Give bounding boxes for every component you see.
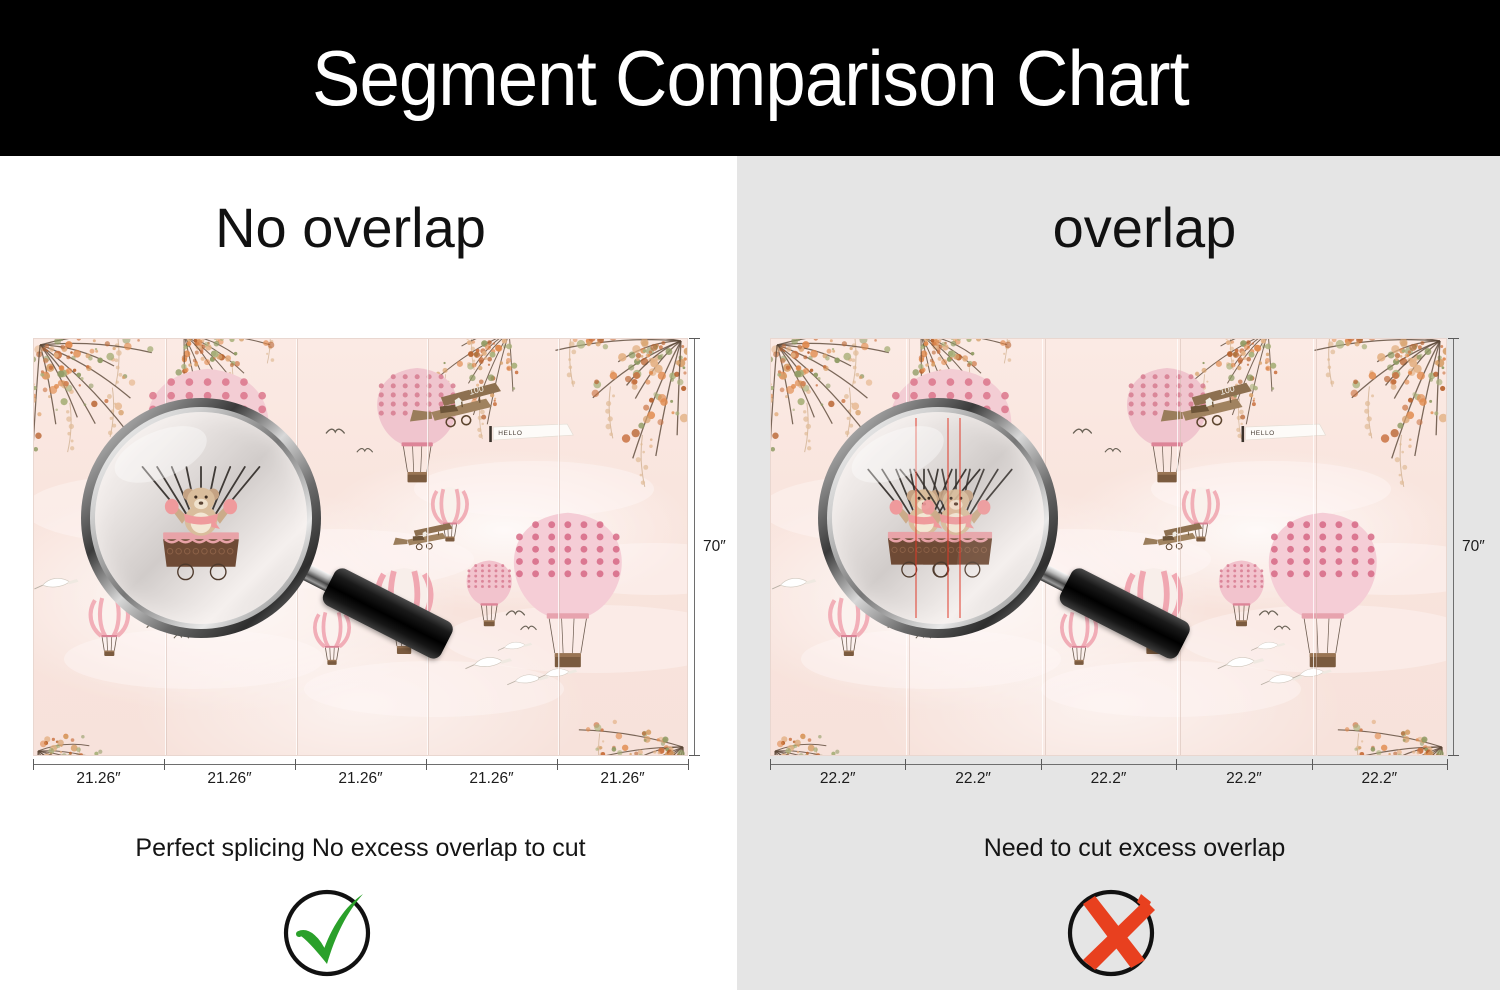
segment-tick xyxy=(1041,759,1042,770)
page-title: Segment Comparison Chart xyxy=(312,39,1189,117)
comparison-panels: No overlap 100HELLO 70″ 21.26″21.26″21.2… xyxy=(0,156,1500,990)
title-banner: Segment Comparison Chart xyxy=(0,0,1500,156)
mural-seam-shadow xyxy=(166,339,167,755)
segment-tick xyxy=(905,759,906,770)
segment-tick xyxy=(688,759,689,770)
segment-tick xyxy=(1447,759,1448,770)
segment-tick xyxy=(1176,759,1177,770)
panel-overlap: overlap 100HELLO 70″ 22.2″22.2″22.2″22.2… xyxy=(737,156,1500,990)
segment-width-label: 21.26″ xyxy=(469,770,513,788)
segment-width-label: 22.2″ xyxy=(1226,770,1262,788)
verdict-no-overlap xyxy=(0,880,695,984)
svg-text:HELLO: HELLO xyxy=(1251,430,1275,437)
height-dimension-cap-top xyxy=(689,338,700,339)
mural-seam-shadow xyxy=(1045,339,1046,755)
segment-width-label: 22.2″ xyxy=(955,770,991,788)
segment-width-label: 21.26″ xyxy=(338,770,382,788)
height-dimension-cap-bottom xyxy=(1448,755,1459,756)
segment-tick xyxy=(770,759,771,770)
caption-no-overlap: Perfect splicing No excess overlap to cu… xyxy=(0,836,729,861)
mural-seam-line xyxy=(1042,339,1043,755)
segment-dimension-line xyxy=(33,764,688,765)
height-dimension-cap-top xyxy=(1448,338,1459,339)
panel-heading-no-overlap: No overlap xyxy=(0,200,719,256)
height-dimension-cap-bottom xyxy=(689,755,700,756)
segment-width-label: 22.2″ xyxy=(1091,770,1127,788)
verdict-overlap xyxy=(731,880,1494,984)
mural-seam-line xyxy=(1177,339,1178,755)
mural-no-overlap: 100HELLO 70″ xyxy=(33,338,688,756)
svg-text:HELLO: HELLO xyxy=(498,430,522,437)
height-dimension-label: 70″ xyxy=(1462,538,1485,556)
segment-tick xyxy=(557,759,558,770)
panel-heading-overlap: overlap xyxy=(763,200,1500,256)
segment-width-label: 22.2″ xyxy=(1361,770,1397,788)
segment-tick xyxy=(33,759,34,770)
mural-seam-shadow xyxy=(909,339,910,755)
mural-seam-shadow xyxy=(559,339,560,755)
mural-seam-shadow xyxy=(428,339,429,755)
mural-seam-line xyxy=(1313,339,1314,755)
mural-artwork: 100HELLO xyxy=(771,339,1447,756)
mural-image-overlap: 100HELLO xyxy=(770,338,1447,756)
segment-tick xyxy=(1312,759,1313,770)
mural-image-no-overlap: 100HELLO xyxy=(33,338,688,756)
segment-dimension-bar-overlap: 22.2″22.2″22.2″22.2″22.2″ xyxy=(770,764,1447,798)
mural-seam-shadow xyxy=(297,339,298,755)
mural-overlap: 100HELLO 70″ xyxy=(770,338,1447,756)
segment-tick xyxy=(426,759,427,770)
segment-width-label: 21.26″ xyxy=(76,770,120,788)
height-dimension-line xyxy=(1453,338,1454,756)
mural-artwork: 100HELLO xyxy=(34,339,688,756)
segment-width-label: 22.2″ xyxy=(820,770,856,788)
height-dimension-overlap: 70″ xyxy=(1453,338,1487,756)
caption-overlap: Need to cut excess overlap xyxy=(753,836,1500,861)
x-circle-icon xyxy=(1061,880,1165,984)
segment-tick xyxy=(295,759,296,770)
mural-seam-shadow xyxy=(1316,339,1317,755)
segment-width-label: 21.26″ xyxy=(600,770,644,788)
segment-width-label: 21.26″ xyxy=(207,770,251,788)
mural-seam-shadow xyxy=(1180,339,1181,755)
check-circle-icon xyxy=(275,880,379,984)
mural-seam-line xyxy=(906,339,907,755)
height-dimension-no-overlap: 70″ xyxy=(694,338,728,756)
panel-no-overlap: No overlap 100HELLO 70″ 21.26″21.26″21.2… xyxy=(0,156,737,990)
segment-dimension-bar-no-overlap: 21.26″21.26″21.26″21.26″21.26″ xyxy=(33,764,688,798)
segment-tick xyxy=(164,759,165,770)
height-dimension-line xyxy=(694,338,695,756)
height-dimension-label: 70″ xyxy=(703,538,726,556)
segment-dimension-line xyxy=(770,764,1447,765)
